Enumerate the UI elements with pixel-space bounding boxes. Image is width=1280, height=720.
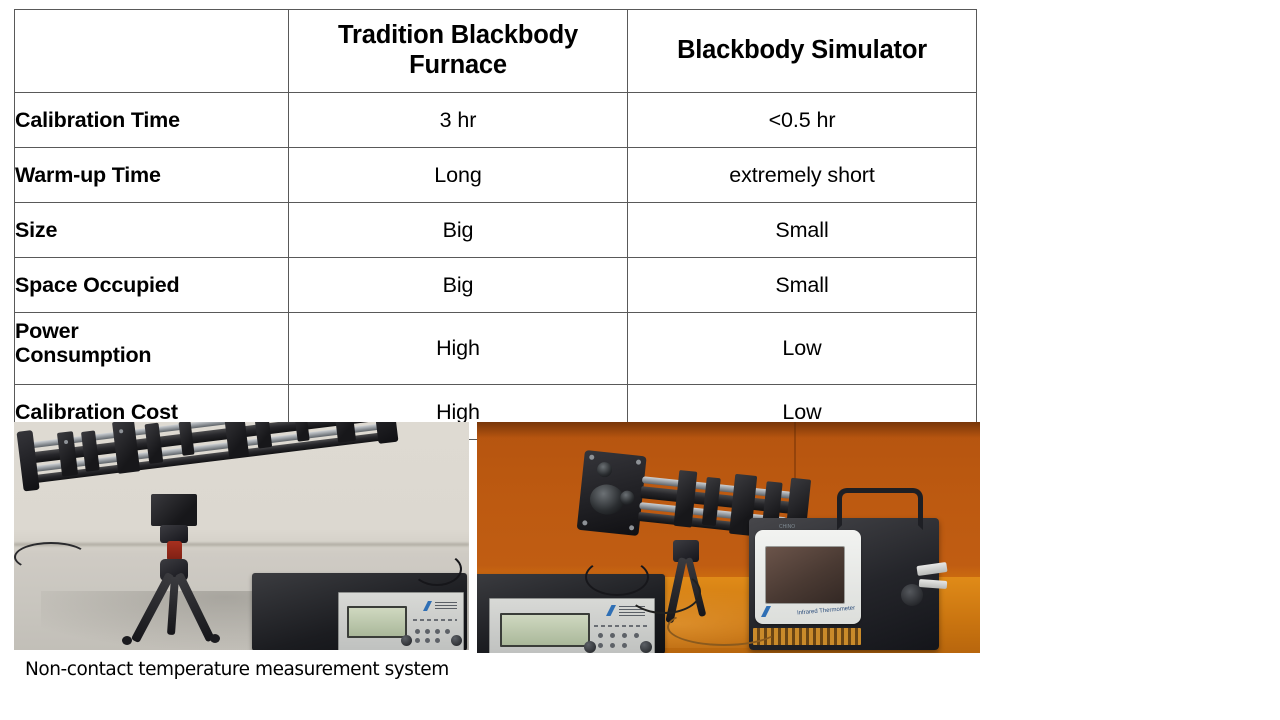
photo-traditional-blackbody-furnace (14, 422, 469, 650)
cell-simulator-calibration-time: <0.5 hr (628, 93, 977, 148)
table-row: Space Occupied Big Small (15, 258, 977, 313)
brand-logo-icon (606, 605, 616, 616)
tripod-foot (210, 634, 220, 643)
controller-knob (451, 635, 462, 646)
photo-strip: Infrared Thermometer CHINO (14, 422, 980, 653)
cell-simulator-size: Small (628, 203, 977, 258)
controller-front-panel (489, 598, 655, 653)
controller-button (610, 643, 615, 648)
thermometer-brand-top-label: CHINO (779, 524, 795, 530)
row-label-space-occupied: Space Occupied (15, 258, 289, 313)
header-corner-cell (15, 10, 289, 93)
row-label-calibration-time: Calibration Time (15, 93, 289, 148)
sensor-cable (919, 579, 947, 589)
column-header-furnace-line2: Furnace (409, 51, 507, 79)
power-cable (627, 570, 701, 614)
scene-orange-room: Infrared Thermometer CHINO (477, 422, 980, 653)
controller-button (622, 633, 627, 638)
button-legend-text (594, 625, 648, 627)
thermometer-model-label: Infrared Thermometer (797, 605, 856, 616)
controller-button (610, 633, 615, 638)
brand-name-text (435, 602, 457, 611)
controller-button (415, 629, 420, 634)
column-header-furnace-line1: Tradition Blackbody (338, 21, 578, 49)
photo-blackbody-simulator: Infrared Thermometer CHINO (477, 422, 980, 653)
table-row: Power Consumption High Low (15, 313, 977, 385)
thermometer-front-bezel: Infrared Thermometer (755, 530, 861, 624)
cell-furnace-warm-up-time: Long (289, 148, 628, 203)
controller-button (445, 629, 450, 634)
table-header-row: Tradition Blackbody Furnace Blackbody Si… (15, 10, 977, 93)
cell-simulator-warm-up-time: extremely short (628, 148, 977, 203)
controller-lcd-display (500, 613, 590, 647)
power-cable (412, 552, 462, 586)
controller-button (622, 643, 627, 648)
cell-furnace-calibration-time: 3 hr (289, 93, 628, 148)
cell-simulator-space-occupied: Small (628, 258, 977, 313)
figure-caption: Non-contact temperature measurement syst… (25, 659, 449, 680)
row-label-power-consumption-line2: Consumption (15, 343, 288, 367)
brand-logo-icon (423, 601, 432, 611)
row-label-power-consumption-line1: Power (15, 319, 288, 343)
scene-pale-studio (14, 422, 469, 650)
row-label-size: Size (15, 203, 289, 258)
power-cable (667, 608, 781, 646)
thermometer-display-screen (765, 546, 845, 604)
row-label-warm-up-time: Warm-up Time (15, 148, 289, 203)
controller-button (435, 629, 440, 634)
controller-button (425, 638, 430, 643)
carry-handle (837, 488, 923, 530)
power-cable (14, 542, 88, 572)
column-header-furnace: Tradition Blackbody Furnace (289, 10, 628, 93)
controller-button (598, 643, 603, 648)
button-legend-text (413, 619, 457, 621)
comparison-table: Tradition Blackbody Furnace Blackbody Si… (14, 9, 977, 440)
controller-button (425, 629, 430, 634)
cell-furnace-size: Big (289, 203, 628, 258)
cell-furnace-power-consumption: High (289, 313, 628, 385)
controller-button (435, 638, 440, 643)
controller-lcd-display (347, 606, 407, 638)
controller-button (634, 633, 639, 638)
connector-port (901, 584, 923, 606)
comparison-table-container: Tradition Blackbody Furnace Blackbody Si… (14, 9, 976, 440)
row-label-power-consumption: Power Consumption (15, 313, 289, 385)
column-header-simulator: Blackbody Simulator (628, 10, 977, 93)
controller-front-panel (338, 592, 464, 650)
table-row: Warm-up Time Long extremely short (15, 148, 977, 203)
tripod-center-column (167, 541, 182, 561)
controller-knob (640, 641, 652, 653)
table-row: Calibration Time 3 hr <0.5 hr (15, 93, 977, 148)
table-row: Size Big Small (15, 203, 977, 258)
controller-knob (401, 635, 412, 646)
cell-furnace-space-occupied: Big (289, 258, 628, 313)
rail-mount-block (151, 494, 197, 526)
tripod-foot (122, 636, 132, 645)
controller-button (598, 633, 603, 638)
cell-simulator-power-consumption: Low (628, 313, 977, 385)
controller-button (415, 638, 420, 643)
controller-knob (584, 641, 596, 653)
